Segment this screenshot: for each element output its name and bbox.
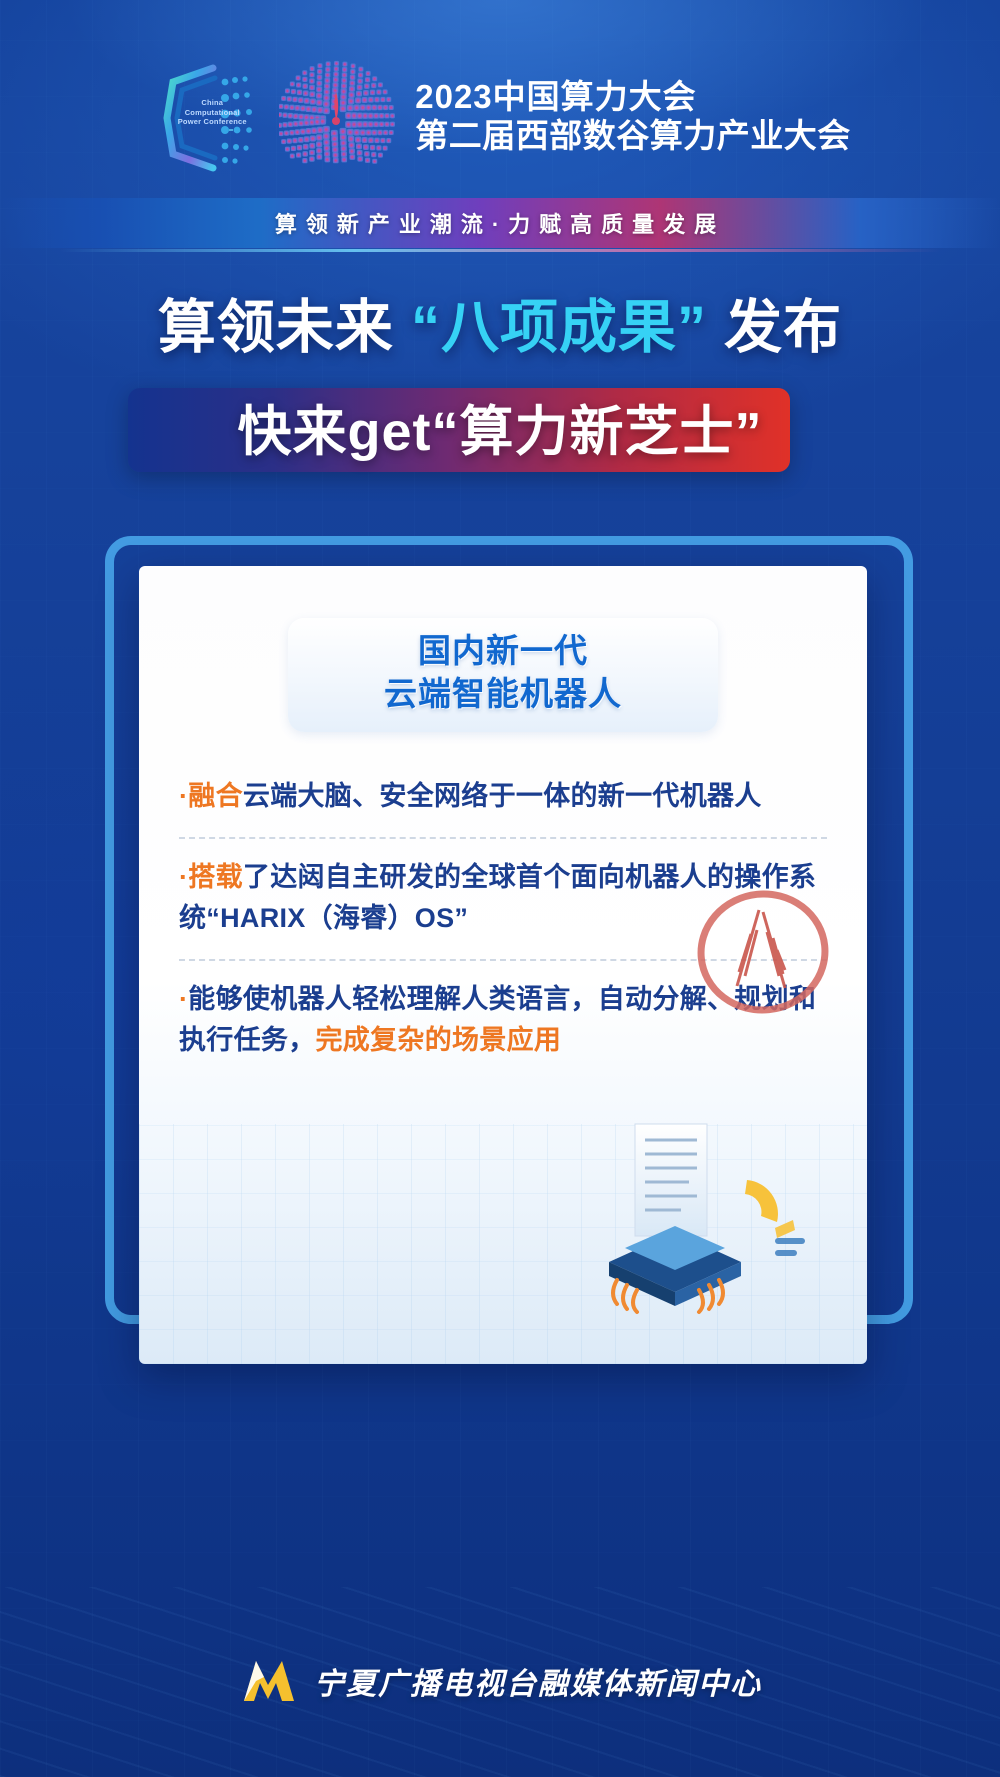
bullet-item-1: ·融合云端大脑、安全网络于一体的新一代机器人: [179, 758, 827, 837]
bullet-text-1: 云端大脑、安全网络于一体的新一代机器人: [243, 781, 762, 811]
conference-title-block: 2023中国算力大会 第二届西部数谷算力产业大会: [415, 78, 851, 156]
bullet-item-2: ·搭载了达闼自主研发的全球首个面向机器人的操作系统“HARIX（海睿）OS”: [179, 839, 827, 959]
card-badge: 国内新一代 云端智能机器人: [288, 618, 718, 732]
bullet-highlight-1: 融合: [188, 781, 243, 811]
bullet-highlight-2: 搭载: [188, 862, 243, 892]
poster-root: China Computational Power Conference: [0, 0, 1000, 1777]
main-title-part1: 算领未来: [158, 295, 394, 360]
peacock-fan-logo-icon: [279, 58, 397, 176]
bullet-text-2: 了达闼自主研发的全球首个面向机器人的操作系统“HARIX（海睿）OS”: [179, 862, 816, 933]
document-server-illustration: [579, 1120, 809, 1330]
slogan-banner: 算领新产业潮流·力赋高质量发展: [0, 198, 1000, 248]
main-title-line2: 快来get“算力新芝士”: [0, 380, 1000, 472]
bullet-dot-2: ·: [179, 862, 188, 892]
achievement-card: 国内新一代 云端智能机器人 ·融合云端大脑、安全网络于一体的新一代机器人 ·搭载…: [139, 566, 867, 1364]
main-title-part3: 发布: [724, 295, 842, 360]
bullet-highlight-3: 完成复杂的场景应用: [316, 1025, 562, 1055]
footer: 宁夏广播电视台融媒体新闻中心: [0, 1655, 1000, 1707]
conference-title-line1: 2023中国算力大会: [415, 78, 851, 117]
card-bullet-list: ·融合云端大脑、安全网络于一体的新一代机器人 ·搭载了达闼自主研发的全球首个面向…: [179, 758, 827, 1081]
card-badge-line2: 云端智能机器人: [298, 673, 708, 716]
logo-caption: China Computational Power Conference: [175, 98, 249, 127]
main-title-block: 算领未来 “八项成果” 发布 快来get“算力新芝士”: [0, 294, 1000, 472]
china-computational-power-conference-logo-icon: China Computational Power Conference: [149, 58, 261, 176]
conference-title-line2: 第二届西部数谷算力产业大会: [415, 117, 851, 156]
bullet-dot-3: ·: [179, 984, 188, 1014]
ningxia-broadcast-logo-icon: [238, 1655, 300, 1707]
main-title-part2: “八项成果”: [411, 295, 707, 360]
conference-header: China Computational Power Conference: [0, 0, 1000, 176]
main-title-line1: 算领未来 “八项成果” 发布: [0, 294, 1000, 362]
main-title-line2-wrap: 快来get“算力新芝士”: [0, 380, 1000, 472]
bullet-item-3: ·能够使机器人轻松理解人类语言，自动分解、规划和执行任务，完成复杂的场景应用: [179, 961, 827, 1081]
card-badge-line1: 国内新一代: [298, 630, 708, 673]
bullet-dot-1: ·: [179, 781, 188, 811]
slogan-text: 算领新产业潮流·力赋高质量发展: [0, 198, 1000, 248]
achievement-card-wrap: 国内新一代 云端智能机器人 ·融合云端大脑、安全网络于一体的新一代机器人 ·搭载…: [105, 536, 895, 1366]
footer-text: 宁夏广播电视台融媒体新闻中心: [314, 1659, 762, 1703]
